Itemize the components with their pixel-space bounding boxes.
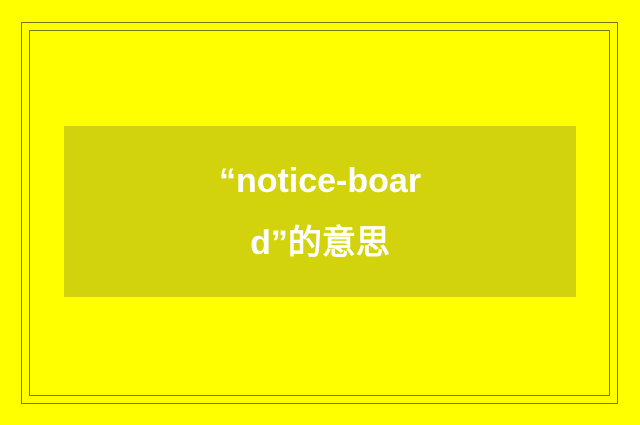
title-card: “notice-board”的意思	[64, 126, 576, 297]
page-canvas: “notice-board”的意思	[0, 0, 640, 425]
page-title: “notice-board”的意思	[205, 150, 435, 274]
